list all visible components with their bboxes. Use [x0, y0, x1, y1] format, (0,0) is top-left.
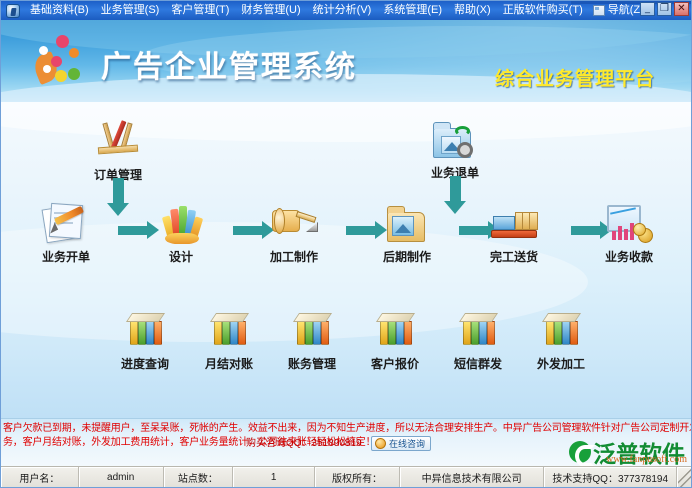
node-outsourced-processing[interactable]: 外发加工: [513, 309, 609, 371]
banner-title: 广告企业管理系统: [101, 42, 357, 86]
arrow-down: [113, 178, 124, 204]
arrow-down: [450, 176, 461, 202]
app-banner: 广告企业管理系统 综合业务管理平台: [1, 20, 691, 102]
ticker-line-1: 客户欠款已到期，未提醒用户，至呆呆账，死帐的产生。效益不出来，因为不知生产进度，…: [3, 423, 691, 435]
status-sites-label: 站点数：: [164, 467, 234, 487]
promo-ticker: 客户欠款已到期，未提醒用户，至呆呆账，死帐的产生。效益不出来，因为不知生产进度，…: [1, 418, 691, 466]
menu-business[interactable]: 业务管理(S): [95, 2, 166, 19]
node-design[interactable]: 设计: [133, 202, 229, 264]
node-post-production[interactable]: 后期制作: [359, 202, 455, 264]
node-create-order[interactable]: 业务开单: [18, 202, 114, 264]
online-consult-button[interactable]: 在线咨询: [371, 436, 431, 451]
application-window: 基础资料(B) 业务管理(S) 客户管理(T) 财务管理(U) 统计分析(V) …: [0, 0, 692, 488]
node-business-return[interactable]: 业务退单: [407, 118, 503, 180]
books-icon: [535, 309, 587, 353]
node-label: 完工送货: [466, 250, 562, 264]
books-icon: [286, 309, 338, 353]
resize-grip[interactable]: [677, 467, 691, 487]
books-icon: [369, 309, 421, 353]
status-bar: 用户名： admin 站点数： 1 版权所有： 中异信息技术有限公司 技术支持Q…: [1, 466, 691, 487]
menu-customer[interactable]: 客户管理(T): [165, 2, 235, 19]
menu-buy-license[interactable]: 正版软件购买(T): [497, 2, 589, 19]
maximize-button[interactable]: ❐: [657, 2, 672, 16]
status-support-value: 技术支持QQ：377378194: [544, 467, 677, 487]
menu-system[interactable]: 系统管理(E): [377, 2, 448, 19]
status-username-value: admin: [79, 467, 164, 487]
status-copyright-label: 版权所有：: [315, 467, 400, 487]
node-label: 加工制作: [246, 250, 342, 264]
node-order-management[interactable]: 订单管理: [70, 120, 166, 182]
workflow-canvas: 订单管理 业务退单: [1, 102, 691, 418]
node-label: 进度查询: [97, 357, 193, 371]
document-pen-icon: [40, 202, 92, 246]
node-progress-query[interactable]: 进度查询: [97, 309, 193, 371]
menu-finance[interactable]: 财务管理(U): [235, 2, 306, 19]
node-monthly-reconciliation[interactable]: 月结对账: [181, 309, 277, 371]
close-button[interactable]: ✕: [674, 2, 689, 16]
node-label: 业务收款: [581, 250, 677, 264]
navigation-icon: [593, 5, 605, 16]
books-icon: [203, 309, 255, 353]
online-consult-label: 在线咨询: [389, 437, 425, 450]
node-customer-quotation[interactable]: 客户报价: [347, 309, 443, 371]
website-watermark: www.fanpusoft.com: [606, 454, 687, 465]
node-payment-collection[interactable]: 业务收款: [581, 202, 677, 264]
menu-bar: 基础资料(B) 业务管理(S) 客户管理(T) 财务管理(U) 统计分析(V) …: [1, 1, 691, 20]
minimize-button[interactable]: _: [640, 2, 655, 16]
node-label: 月结对账: [181, 357, 277, 371]
node-label: 设计: [133, 250, 229, 264]
status-copyright-value: 中异信息技术有限公司: [400, 467, 545, 487]
node-label: 账务管理: [264, 357, 360, 371]
node-delivery[interactable]: 完工送货: [466, 202, 562, 264]
node-label: 业务开单: [18, 250, 114, 264]
menu-navigation-label: 导航(Z): [608, 4, 644, 16]
consult-icon: [375, 438, 386, 449]
compass-ruler-icon: [92, 120, 144, 164]
node-label: 后期制作: [359, 250, 455, 264]
menu-help[interactable]: 帮助(X): [448, 2, 497, 19]
app-logo-icon: [6, 4, 20, 18]
machine-cutter-icon: [268, 202, 320, 246]
menu-statistics[interactable]: 统计分析(V): [307, 2, 378, 19]
banner-subtitle: 综合业务管理平台: [495, 64, 655, 91]
status-username-label: 用户名：: [1, 467, 79, 487]
delivery-truck-icon: [488, 202, 540, 246]
folder-image-icon: [381, 202, 433, 246]
chart-coins-icon: [603, 202, 655, 246]
node-label: 外发加工: [513, 357, 609, 371]
window-controls: _ ❐ ✕: [640, 2, 689, 16]
color-pencils-icon: [155, 202, 207, 246]
menu-basic-data[interactable]: 基础资料(B): [24, 2, 95, 19]
node-account-management[interactable]: 账务管理: [264, 309, 360, 371]
purchase-qq-text: 购买咨询QQ：351890819: [246, 437, 362, 451]
colored-dots-logo-icon: [35, 32, 93, 90]
fanpu-logo-icon: [569, 441, 591, 463]
books-icon: [452, 309, 504, 353]
books-icon: [119, 309, 171, 353]
return-folder-icon: [429, 118, 481, 162]
node-label: 客户报价: [347, 357, 443, 371]
node-processing[interactable]: 加工制作: [246, 202, 342, 264]
node-bulk-sms[interactable]: 短信群发: [430, 309, 526, 371]
status-sites-value: 1: [233, 467, 315, 487]
node-label: 短信群发: [430, 357, 526, 371]
